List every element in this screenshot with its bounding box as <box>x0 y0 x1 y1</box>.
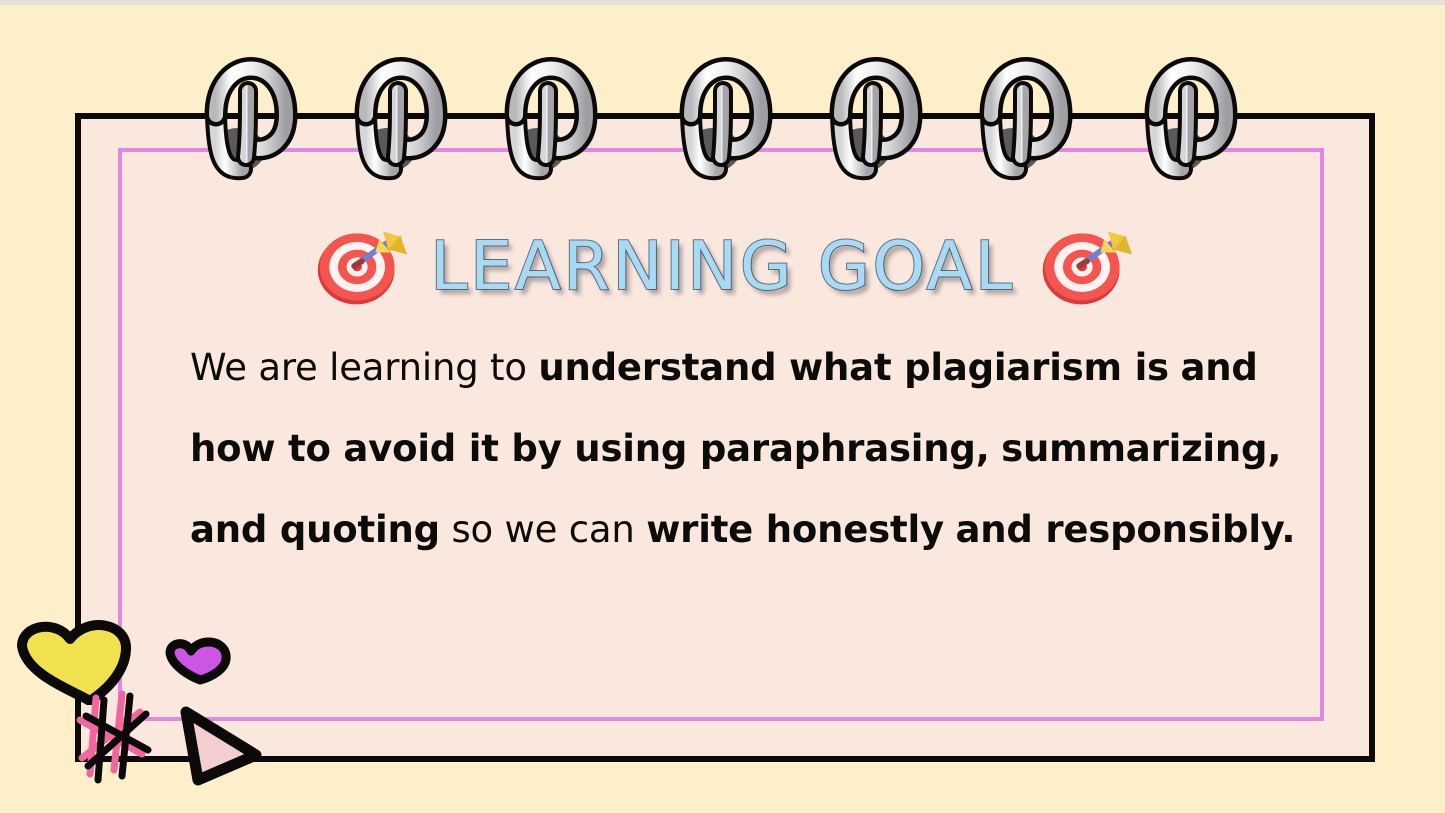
learning-goal-body: We are learning to understand what plagi… <box>190 327 1300 570</box>
body-text-bold-1: understand what plagiarism is <box>538 346 1169 389</box>
page-title: LEARNING GOAL <box>430 233 1014 300</box>
body-text-plain-1: We are learning to <box>190 346 538 389</box>
top-edge-strip <box>0 0 1445 5</box>
body-text-bold-4: write honestly <box>646 508 944 551</box>
direct-hit-target-icon <box>1037 218 1133 314</box>
slide-canvas: LEARNING GOAL We are learning to underst… <box>0 0 1445 813</box>
heading-row: LEARNING GOAL <box>0 218 1445 314</box>
direct-hit-target-icon <box>312 218 408 314</box>
body-text-plain-2: so we can <box>440 508 646 551</box>
body-text-bold-5: and responsibly. <box>955 508 1295 551</box>
